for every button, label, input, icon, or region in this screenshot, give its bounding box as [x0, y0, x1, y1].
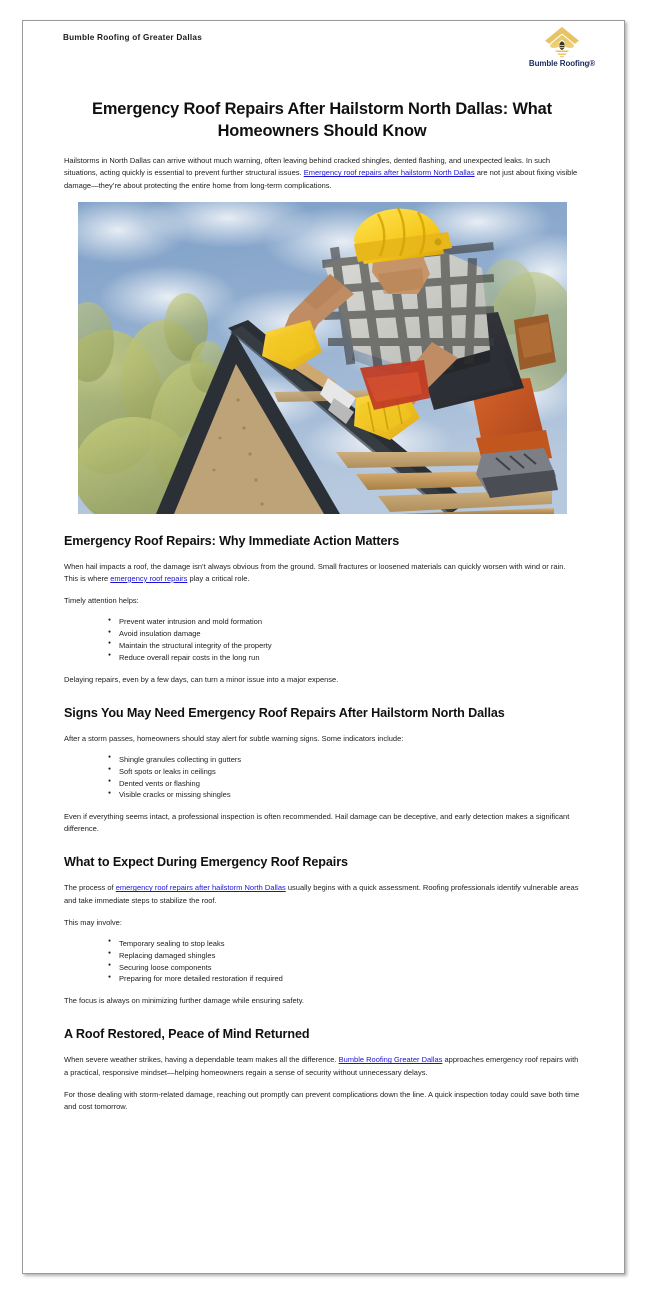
section-1-paragraph: When hail impacts a roof, the damage isn…: [64, 561, 580, 585]
intro-keyword-link[interactable]: Emergency roof repairs after hailstorm N…: [304, 168, 475, 177]
section-3-lead-in: This may involve:: [64, 917, 580, 929]
roofer-hammering-roof-photo: [78, 202, 567, 514]
section-heading-3: What to Expect During Emergency Roof Rep…: [64, 854, 580, 871]
section-1-closing: Delaying repairs, even by a few days, ca…: [64, 674, 580, 686]
list-item: Avoid insulation damage: [108, 628, 580, 640]
section-3-paragraph: The process of emergency roof repairs af…: [64, 882, 580, 906]
list-item: Soft spots or leaks in ceilings: [108, 766, 580, 778]
section-2-closing: Even if everything seems intact, a profe…: [64, 811, 580, 835]
section-heading-4: A Roof Restored, Peace of Mind Returned: [64, 1026, 580, 1043]
section-3-keyword-link[interactable]: emergency roof repairs after hailstorm N…: [116, 883, 286, 892]
brand-logo: Bumble Roofing®: [514, 25, 610, 68]
document-page: Bumble Roofing of Greater Dallas Bumble: [22, 20, 625, 1274]
document-header: Bumble Roofing of Greater Dallas Bumble: [23, 21, 624, 76]
section-4-text-before-link: When severe weather strikes, having a de…: [64, 1055, 339, 1064]
section-4-closing: For those dealing with storm-related dam…: [64, 1089, 580, 1113]
section-3-text-before-link: The process of: [64, 883, 116, 892]
list-item: Visible cracks or missing shingles: [108, 789, 580, 801]
list-item: Preparing for more detailed restoration …: [108, 973, 580, 985]
section-heading-2: Signs You May Need Emergency Roof Repair…: [64, 705, 580, 722]
list-item: Securing loose components: [108, 962, 580, 974]
list-item: Reduce overall repair costs in the long …: [108, 652, 580, 664]
section-3-closing: The focus is always on minimizing furthe…: [64, 995, 580, 1007]
list-item: Temporary sealing to stop leaks: [108, 938, 580, 950]
list-item: Replacing damaged shingles: [108, 950, 580, 962]
hero-figure: [64, 202, 580, 514]
intro-paragraph: Hailstorms in North Dallas can arrive wi…: [64, 155, 580, 191]
list-item: Prevent water intrusion and mold formati…: [108, 616, 580, 628]
document-body: Emergency Roof Repairs After Hailstorm N…: [23, 99, 624, 1113]
list-item: Maintain the structural integrity of the…: [108, 640, 580, 652]
section-heading-1: Emergency Roof Repairs: Why Immediate Ac…: [64, 533, 580, 550]
section-4-paragraph: When severe weather strikes, having a de…: [64, 1054, 580, 1078]
section-1-text-after-link: play a critical role.: [187, 574, 249, 583]
list-item: Dented vents or flashing: [108, 778, 580, 790]
section-1-lead-in: Timely attention helps:: [64, 595, 580, 607]
list-item: Shingle granules collecting in gutters: [108, 754, 580, 766]
section-3-bullet-list: Temporary sealing to stop leaks Replacin…: [64, 938, 580, 985]
section-4-brand-link[interactable]: Bumble Roofing Greater Dallas: [339, 1055, 443, 1064]
brand-wordmark: Bumble Roofing®: [514, 59, 610, 68]
page-title: Emergency Roof Repairs After Hailstorm N…: [64, 99, 580, 142]
section-2-bullet-list: Shingle granules collecting in gutters S…: [64, 754, 580, 801]
section-1-bullet-list: Prevent water intrusion and mold formati…: [64, 616, 580, 663]
bumble-roofing-bee-chevron-icon: [542, 25, 582, 59]
section-1-keyword-link[interactable]: emergency roof repairs: [110, 574, 187, 583]
section-2-lead-in: After a storm passes, homeowners should …: [64, 733, 580, 745]
